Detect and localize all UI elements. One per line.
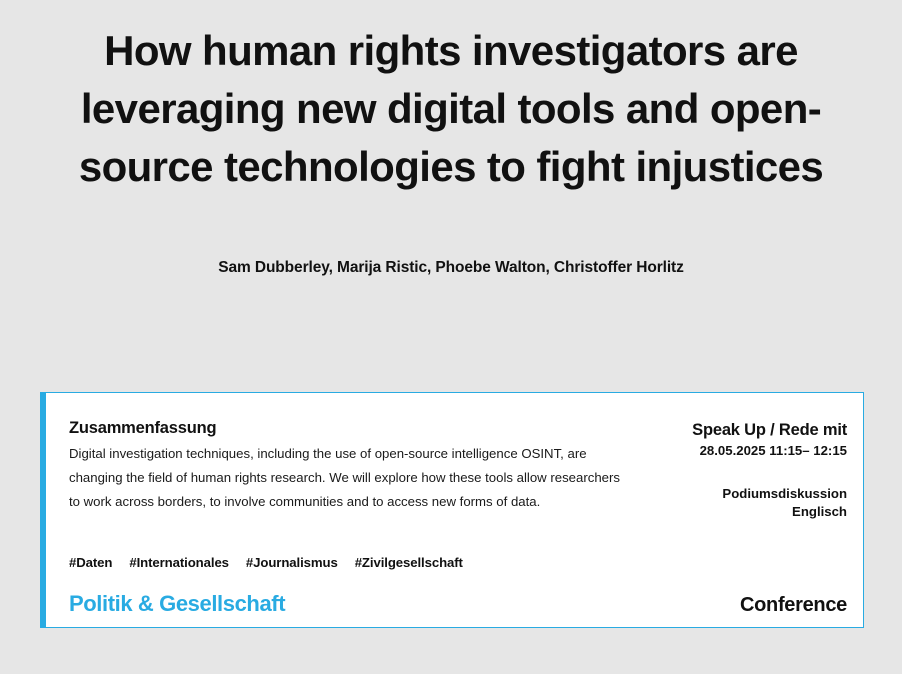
card-footer: Politik & Gesellschaft Conference	[69, 591, 847, 617]
tag-item[interactable]: #Journalismus	[246, 555, 338, 570]
tag-item[interactable]: #Zivilgesellschaft	[355, 555, 463, 570]
authors-list: Sam Dubberley, Marija Ristic, Phoebe Wal…	[0, 259, 902, 277]
stage-name: Speak Up / Rede mit	[657, 421, 847, 440]
page-title: How human rights investigators are lever…	[71, 22, 831, 196]
session-card-inner: Zusammenfassung Digital investigation te…	[46, 393, 863, 627]
title-block: How human rights investigators are lever…	[0, 0, 902, 196]
tag-item[interactable]: #Internationales	[129, 555, 229, 570]
tag-item[interactable]: #Daten	[69, 555, 112, 570]
card-columns: Zusammenfassung Digital investigation te…	[69, 419, 847, 519]
session-language: Englisch	[657, 504, 847, 519]
session-datetime: 28.05.2025 11:15– 12:15	[657, 443, 847, 458]
summary-column: Zusammenfassung Digital investigation te…	[69, 419, 627, 514]
summary-body: Digital investigation techniques, includ…	[69, 442, 627, 514]
meta-column: Speak Up / Rede mit 28.05.2025 11:15– 12…	[657, 419, 847, 519]
session-card: Zusammenfassung Digital investigation te…	[40, 392, 864, 628]
session-format: Podiumsdiskussion	[657, 486, 847, 501]
tag-list: #Daten #Internationales #Journalismus #Z…	[69, 555, 463, 570]
event-type-label: Conference	[740, 594, 847, 617]
page-root: How human rights investigators are lever…	[0, 0, 902, 674]
category-label[interactable]: Politik & Gesellschaft	[69, 591, 285, 617]
summary-heading: Zusammenfassung	[69, 419, 627, 438]
authors-block: Sam Dubberley, Marija Ristic, Phoebe Wal…	[0, 259, 902, 277]
